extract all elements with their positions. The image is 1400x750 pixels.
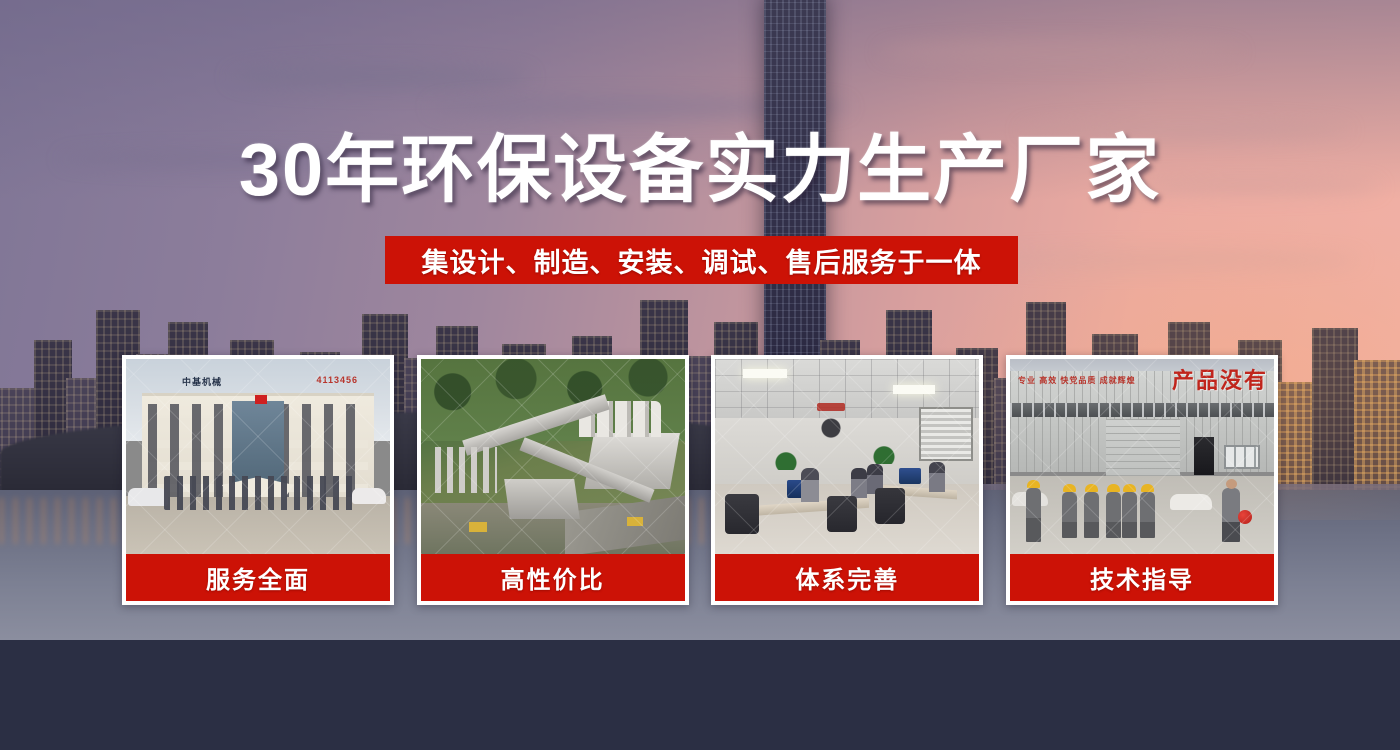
- banner-content: 30年环保设备实力生产厂家 集设计、制造、安装、调试、售后服务于一体 中基机械 …: [0, 0, 1400, 750]
- card-label-text: 高性价比: [501, 560, 605, 595]
- card-label: 技术指导: [1010, 554, 1274, 601]
- factory-workers-training-photo: 产品没有 专业 高效 快党品质 成就辉煌: [1010, 359, 1274, 554]
- card-label-text: 体系完善: [795, 560, 899, 595]
- card-label-text: 技术指导: [1090, 560, 1194, 595]
- aerial-industrial-plant-photo: [421, 359, 685, 554]
- feature-card[interactable]: 中基机械 4113456 服务全面: [122, 355, 394, 605]
- feature-card[interactable]: 高性价比: [417, 355, 689, 605]
- page-title: 30年环保设备实力生产厂家: [0, 133, 1400, 207]
- company-headquarters-photo: 中基机械 4113456: [126, 359, 390, 554]
- card-label-text: 服务全面: [206, 560, 310, 595]
- photo-phone-text: 4113456: [316, 375, 358, 385]
- card-label: 服务全面: [126, 554, 390, 601]
- photo-signage-text: 中基机械: [182, 375, 222, 388]
- card-label: 体系完善: [715, 554, 979, 601]
- feature-card[interactable]: 产品没有 专业 高效 快党品质 成就辉煌 技术指导: [1006, 355, 1278, 605]
- photo-signage-small-text: 专业 高效 快党品质 成就辉煌: [1018, 375, 1136, 387]
- subtitle-text: 集设计、制造、安装、调试、售后服务于一体: [422, 241, 982, 280]
- photo-signage-text: 产品没有: [1172, 363, 1268, 395]
- feature-card-list: 中基机械 4113456 服务全面: [122, 355, 1278, 605]
- card-label: 高性价比: [421, 554, 685, 601]
- office-interior-photo: [715, 359, 979, 554]
- feature-card[interactable]: 体系完善: [711, 355, 983, 605]
- subtitle-banner: 集设计、制造、安装、调试、售后服务于一体: [385, 236, 1018, 284]
